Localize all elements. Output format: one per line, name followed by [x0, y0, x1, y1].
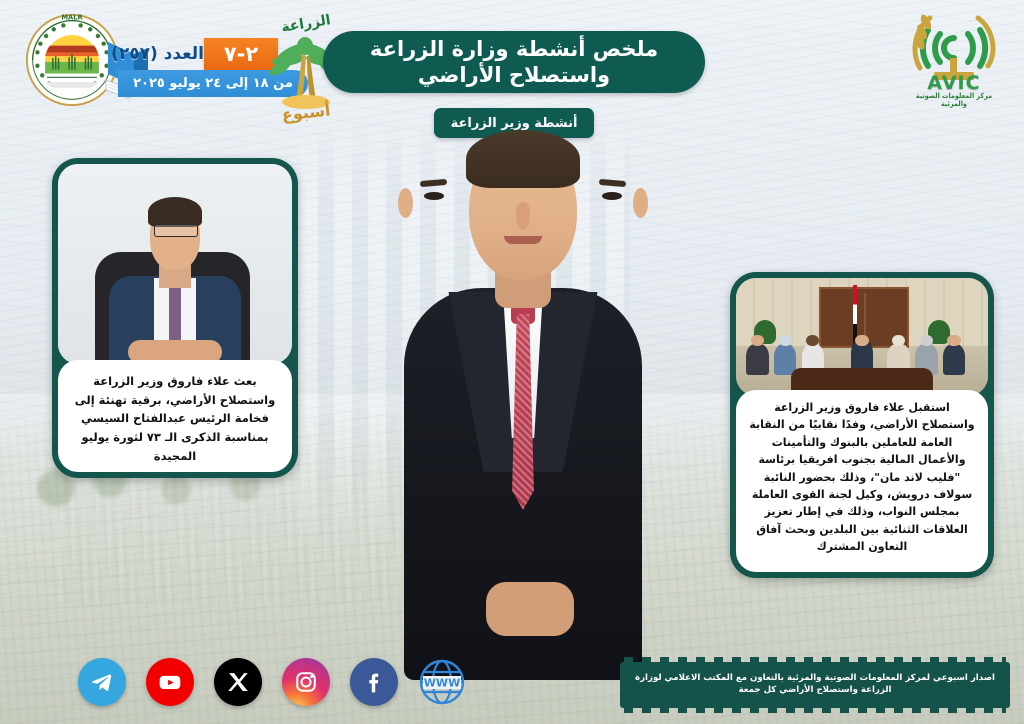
instagram-icon[interactable]	[282, 658, 330, 706]
news-card-right[interactable]: استقبل علاء فاروق وزير الزراعة واستصلاح …	[730, 272, 994, 578]
x-twitter-icon[interactable]	[214, 658, 262, 706]
main-title-pill: ملخص أنشطة وزارة الزراعة واستصلاح الأراض…	[323, 31, 705, 93]
news-photo-right	[736, 278, 988, 396]
malr-emblem-text: MALR	[61, 14, 83, 22]
avic-logo: AVIC مركز المعلومات الصوتية والمرئية	[900, 6, 1008, 110]
telegram-icon[interactable]	[78, 658, 126, 706]
news-card-left[interactable]: بعث علاء فاروق وزير الزراعة واستصلاح الأ…	[52, 158, 298, 478]
issue-label: العدد (٢٥٧)	[104, 38, 204, 70]
svg-text:WWW: WWW	[424, 677, 460, 690]
youtube-icon[interactable]	[146, 658, 194, 706]
avic-subtitle-text: مركز المعلومات الصوتية والمرئية	[904, 92, 1003, 108]
facebook-icon[interactable]	[350, 658, 398, 706]
page-title: ملخص أنشطة وزارة الزراعة واستصلاح الأراض…	[323, 36, 705, 89]
news-photo-left	[58, 164, 292, 364]
social-links-bar: WWW	[78, 658, 466, 706]
news-caption-left: بعث علاء فاروق وزير الزراعة واستصلاح الأ…	[58, 360, 292, 472]
footer-banner: اصدار اسبوعي لمركز المعلومات الصوتية وال…	[620, 662, 1010, 708]
avic-name-text: AVIC	[900, 72, 1008, 94]
minister-portrait	[398, 150, 648, 680]
section-subtitle: أنشطة وزير الزراعة	[451, 116, 578, 131]
website-icon[interactable]: WWW	[418, 658, 466, 706]
poster-canvas: MALR العدد (٢٥٧) ٢-٧ من ١٨ إلى ٢٤ يوليو …	[0, 0, 1024, 724]
news-caption-right: استقبل علاء فاروق وزير الزراعة واستصلاح …	[736, 390, 988, 572]
